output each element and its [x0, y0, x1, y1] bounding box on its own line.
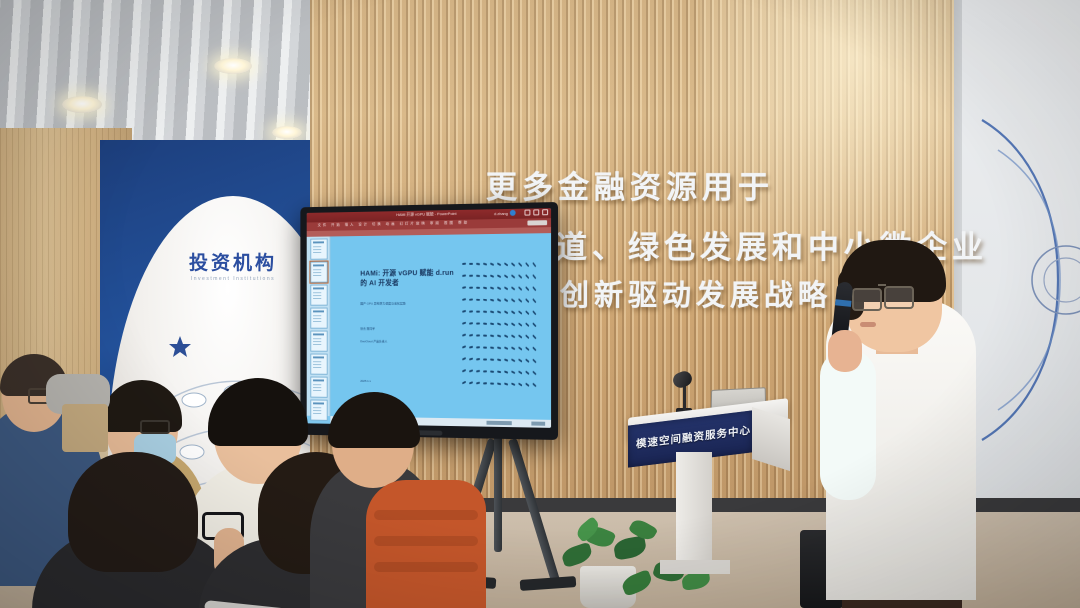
glasses-icon: [140, 420, 170, 434]
slide-thumbnail[interactable]: [310, 261, 327, 282]
share-button[interactable]: [527, 220, 547, 225]
stool: [62, 404, 108, 452]
slide-thumbnail[interactable]: [310, 354, 327, 375]
slide-thumbnail[interactable]: [310, 331, 327, 352]
slide-thumbnail[interactable]: [310, 238, 327, 259]
slide-subtitle: 国产 GPU 异构算力调度与池化实践: [360, 301, 405, 306]
ceiling-downlight: [272, 126, 302, 139]
document-title: HAMi 开源 vGPU 赋能 - PowerPoint: [396, 211, 456, 218]
interactive-display[interactable]: HAMi 开源 vGPU 赋能 - PowerPoint d.zhang 文件 …: [300, 202, 558, 440]
scene-photo: 投资机构 Investment Institutions 更多金融资源用于 道、…: [0, 0, 1080, 608]
podium-base: [660, 560, 730, 574]
white-wall-right: [962, 0, 1080, 560]
slide-footer: 2025.1.x: [360, 379, 371, 383]
wall-line-1: 更多金融资源用于: [486, 162, 774, 207]
circular-decal-graphic: [962, 0, 1080, 560]
avatar[interactable]: [510, 210, 516, 216]
podium-column: [676, 452, 712, 570]
slide-title: HAMi: 开源 vGPU 赋能 d.run 的 AI 开发者: [360, 268, 460, 289]
wall-line-3: 创新驱动发展战略: [560, 272, 832, 314]
slide-presenter: 张杰 限同学: [360, 326, 375, 330]
slide-affiliation: DaoCloud 产品负责人: [360, 339, 387, 343]
slide-thumbnail-pane[interactable]: [307, 236, 331, 416]
ribbon-tab-labels[interactable]: 文件 开始 插入 设计 切换 动画 幻灯片放映 审阅 视图 帮助: [318, 221, 470, 228]
speaker-arm: [820, 350, 876, 500]
screen-content[interactable]: HAMi 开源 vGPU 赋能 - PowerPoint d.zhang 文件 …: [307, 208, 551, 428]
restore-icon[interactable]: [533, 209, 539, 215]
account-chip[interactable]: d.zhang: [494, 210, 516, 216]
speaker-hand: [828, 330, 862, 372]
close-icon[interactable]: [542, 209, 548, 215]
speaker-mouth: [860, 322, 876, 327]
ceiling-downlight: [214, 58, 252, 74]
podium-sign-text: 模速空间融资服务中心: [636, 423, 751, 452]
minimize-icon[interactable]: [524, 210, 530, 216]
active-slide[interactable]: HAMi: 开源 vGPU 赋能 d.run 的 AI 开发者 国产 GPU 异…: [330, 233, 551, 420]
slide-thumbnail[interactable]: [310, 308, 327, 329]
slide-thumbnail[interactable]: [310, 377, 327, 398]
slide-thumbnail[interactable]: [310, 285, 327, 306]
tripod-center-post: [494, 432, 502, 552]
glasses-icon: [884, 286, 914, 309]
editor-body: HAMi: 开源 vGPU 赋能 d.run 的 AI 开发者 国产 GPU 异…: [307, 233, 551, 420]
glasses-icon: [852, 288, 882, 311]
account-name: d.zhang: [494, 210, 508, 215]
vector-field-decoration: [461, 259, 538, 393]
slide-thumbnail[interactable]: [310, 399, 327, 420]
ceiling-downlight: [62, 96, 102, 113]
window-controls[interactable]: [524, 209, 548, 215]
glasses-bridge: [878, 284, 886, 286]
